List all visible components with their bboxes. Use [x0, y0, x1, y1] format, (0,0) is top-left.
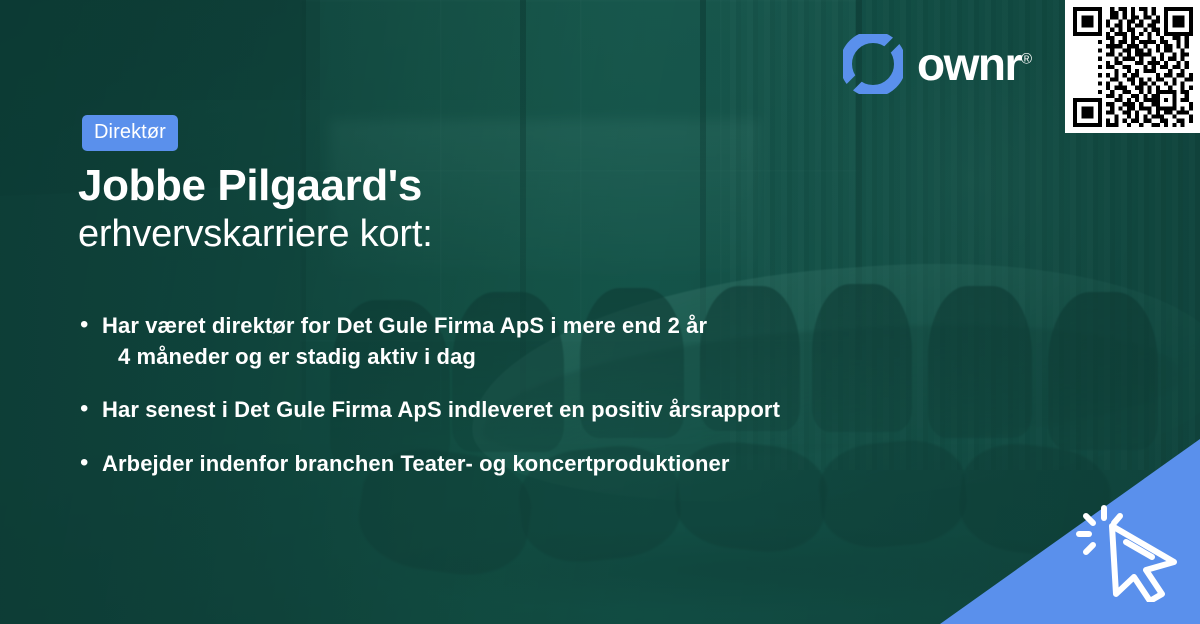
ownr-logo: ownr® [843, 34, 1032, 94]
bullet-marker-icon: • [80, 394, 102, 425]
page-subtitle: erhvervskarriere kort: [78, 212, 433, 256]
list-item-line-continued: 4 måneder og er stadig aktiv i dag [102, 341, 707, 372]
bullet-marker-icon: • [80, 448, 102, 479]
career-facts-list: • Har været direktør for Det Gule Firma … [80, 310, 1000, 501]
list-item-text: Har været direktør for Det Gule Firma Ap… [102, 310, 707, 372]
ownr-wordmark: ownr® [917, 41, 1032, 87]
registered-trademark-icon: ® [1021, 51, 1032, 68]
list-item-text: Arbejder indenfor branchen Teater- og ko… [102, 448, 729, 479]
list-item-line: Har senest i Det Gule Firma ApS indlever… [102, 397, 780, 422]
role-badge: Direktør [82, 115, 178, 151]
list-item: • Arbejder indenfor branchen Teater- og … [80, 448, 1000, 479]
list-item: • Har været direktør for Det Gule Firma … [80, 310, 1000, 372]
list-item-line: Arbejder indenfor branchen Teater- og ko… [102, 451, 729, 476]
card-content: Direktør Jobbe Pilgaard's erhvervskarrie… [0, 0, 1200, 624]
list-item-text: Har senest i Det Gule Firma ApS indlever… [102, 394, 780, 425]
business-card-banner: Direktør Jobbe Pilgaard's erhvervskarrie… [0, 0, 1200, 624]
ownr-circle-mark-icon [843, 34, 903, 94]
list-item-line: Har været direktør for Det Gule Firma Ap… [102, 313, 707, 338]
bullet-marker-icon: • [80, 310, 102, 341]
ownr-wordmark-text: ownr [917, 38, 1021, 90]
qr-code-icon[interactable] [1073, 7, 1193, 127]
qr-code-panel[interactable] [1065, 0, 1200, 133]
cursor-click-icon [1074, 502, 1182, 602]
list-item: • Har senest i Det Gule Firma ApS indlev… [80, 394, 1000, 425]
page-title: Jobbe Pilgaard's [78, 160, 422, 211]
